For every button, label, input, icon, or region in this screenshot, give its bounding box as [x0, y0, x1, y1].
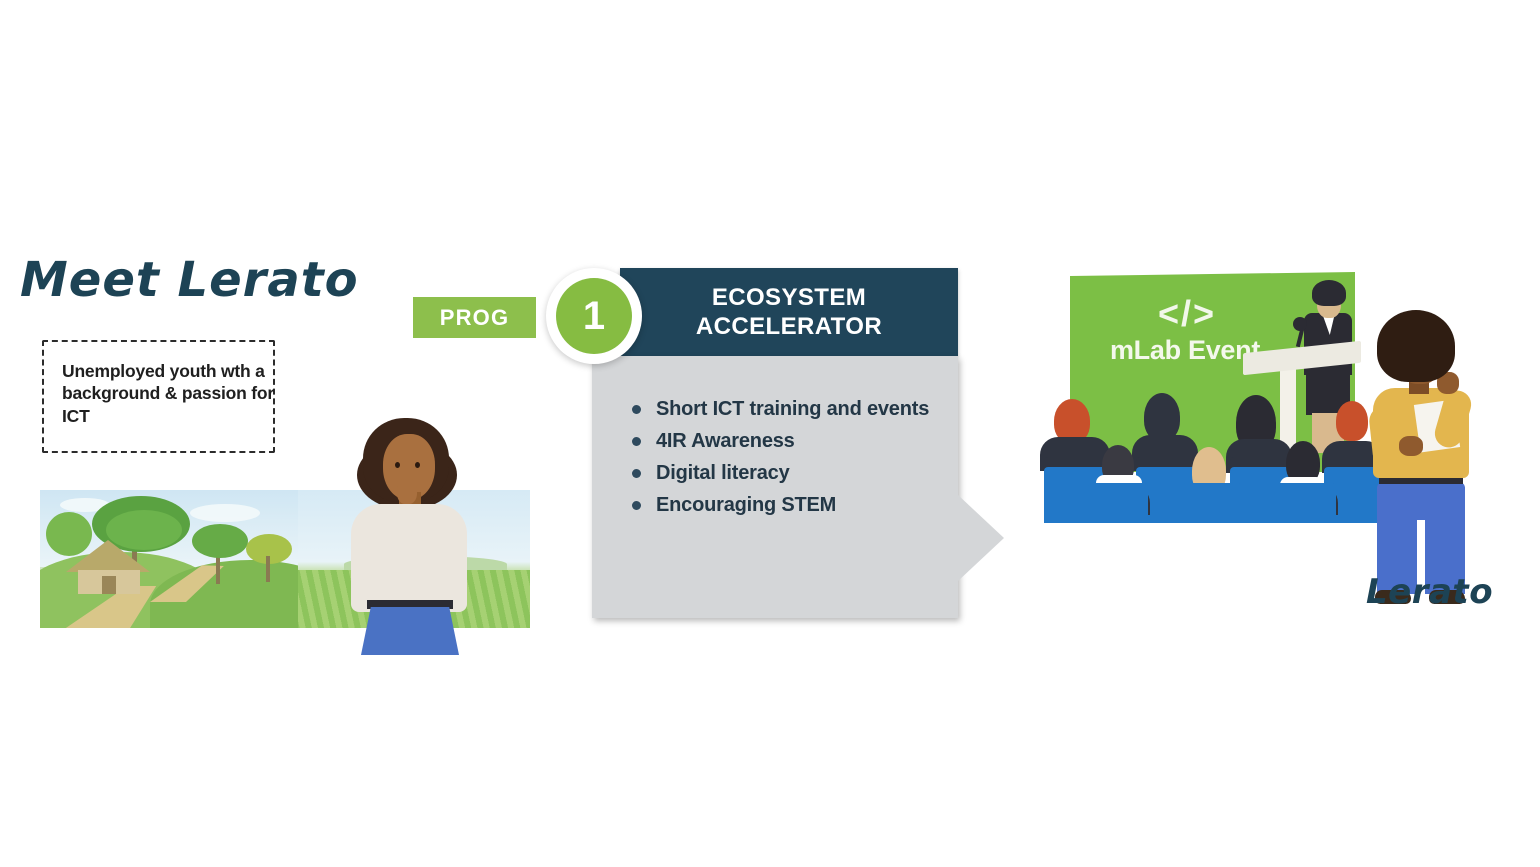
program-card-body: Short ICT training and events 4IR Awaren… [592, 356, 958, 618]
audience-head [1144, 393, 1180, 441]
hand [1399, 436, 1423, 456]
village-landscape-illustration [40, 490, 298, 628]
hair [1377, 310, 1455, 382]
microphone-icon [1293, 317, 1307, 331]
youth-persona-figure [345, 418, 475, 630]
skirt [361, 607, 459, 655]
program-title-line1: ECOSYSTEM [712, 284, 866, 311]
program-number-badge: 1 [556, 278, 632, 354]
prog-badge: PROG [413, 297, 536, 338]
cloud-icon [190, 504, 260, 522]
meet-lerato-title: Meet Lerato [20, 252, 359, 308]
program-title-line2: ACCELERATOR [696, 313, 882, 340]
eye [415, 462, 420, 468]
lerato-figure [1355, 310, 1490, 580]
chair [1276, 483, 1336, 523]
callout-tail [958, 495, 1004, 581]
list-item: Encouraging STEM [628, 490, 938, 520]
program-card-header: ECOSYSTEM ACCELERATOR [620, 268, 958, 356]
tree-icon [192, 524, 248, 558]
program-title: ECOSYSTEM ACCELERATOR [696, 283, 882, 342]
tree-icon [106, 510, 182, 550]
chair [1182, 483, 1242, 523]
program-card[interactable]: ECOSYSTEM ACCELERATOR Short ICT training… [592, 268, 958, 618]
list-item: Digital literacy [628, 458, 938, 488]
lerato-name-label: Lerato [1366, 572, 1493, 612]
program-feature-list: Short ICT training and events 4IR Awaren… [628, 394, 938, 522]
tree-trunk [266, 556, 270, 582]
hut-door [102, 576, 116, 594]
eye [395, 462, 400, 468]
list-item: Short ICT training and events [628, 394, 938, 424]
speaker-hair [1312, 280, 1346, 306]
audience-seating [1040, 423, 1380, 523]
code-brackets-icon: </> [1122, 293, 1252, 335]
chair [1088, 483, 1148, 523]
list-item: 4IR Awareness [628, 426, 938, 456]
tree-icon [46, 512, 92, 556]
infographic-canvas: Meet Lerato Unemployed youth wth a backg… [0, 0, 1540, 867]
persona-description: Unemployed youth wth a background & pass… [62, 360, 277, 427]
hand [397, 478, 417, 504]
